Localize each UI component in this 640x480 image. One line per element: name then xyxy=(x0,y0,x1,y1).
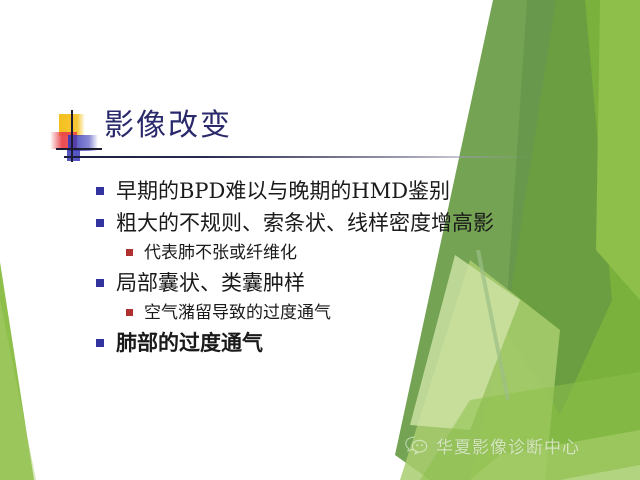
blue-square-bullet-icon xyxy=(96,339,104,347)
watermark: 华夏影像诊断中心 xyxy=(404,430,580,460)
list-item: 代表肺不张或纤维化 xyxy=(96,240,536,266)
wechat-official-account-icon xyxy=(404,434,430,456)
list-item: 粗大的不规则、索条状、线样密度增高影 xyxy=(96,208,536,238)
deco-shape-right-mid xyxy=(596,0,640,300)
slide-body-content: 早期的BPD难以与晚期的HMD鉴别 粗大的不规则、索条状、线样密度增高影 代表肺… xyxy=(96,176,536,360)
list-item-text: 局部囊状、类囊肿样 xyxy=(116,268,305,298)
list-item: 局部囊状、类囊肿样 xyxy=(96,268,536,298)
list-item-text: 粗大的不规则、索条状、线样密度增高影 xyxy=(116,208,494,238)
list-item-text: 代表肺不张或纤维化 xyxy=(144,240,297,266)
page-title: 影像改变 xyxy=(104,104,232,148)
deco-shape-lower-wash xyxy=(420,372,640,480)
logo-crosshair-vertical xyxy=(71,110,73,162)
list-item: 早期的BPD难以与晚期的HMD鉴别 xyxy=(96,176,536,206)
red-square-bullet-icon xyxy=(126,249,133,256)
deco-shape-left-wedge-soft xyxy=(0,300,36,480)
blue-square-bullet-icon xyxy=(96,279,104,287)
blue-square-bullet-icon xyxy=(96,187,104,195)
blue-square-bullet-icon xyxy=(96,219,104,227)
list-item: 肺部的过度通气 xyxy=(96,328,536,358)
presentation-slide: 影像改变 早期的BPD难以与晚期的HMD鉴别 粗大的不规则、索条状、线样密度增高… xyxy=(0,0,640,480)
title-underline-rule xyxy=(64,156,534,158)
deco-shape-left-wedge xyxy=(0,262,34,480)
list-item: 空气潴留导致的过度通气 xyxy=(96,300,536,326)
list-item-text: 肺部的过度通气 xyxy=(116,328,263,358)
list-item-text: 空气潴留导致的过度通气 xyxy=(144,300,331,326)
red-square-bullet-icon xyxy=(126,309,133,316)
slide-title-area: 影像改变 xyxy=(0,98,560,164)
logo-crosshair-horizontal xyxy=(56,148,102,150)
list-item-text: 早期的BPD难以与晚期的HMD鉴别 xyxy=(116,176,450,206)
watermark-text: 华夏影像诊断中心 xyxy=(436,433,580,458)
